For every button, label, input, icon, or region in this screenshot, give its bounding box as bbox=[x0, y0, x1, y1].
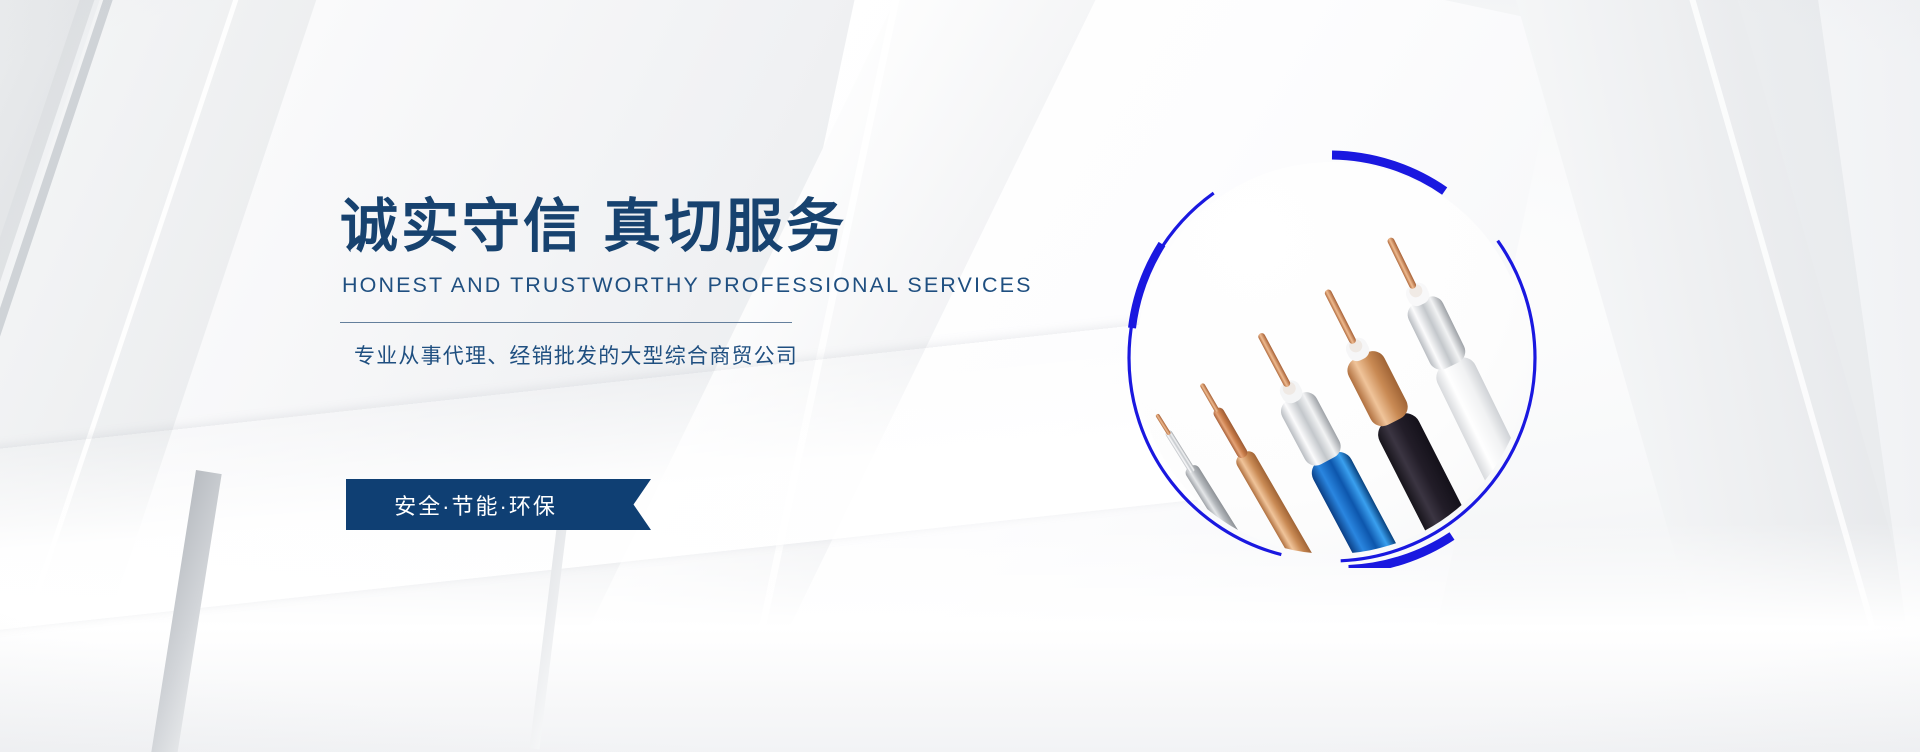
hero-tagline: 专业从事代理、经销批发的大型综合商贸公司 bbox=[354, 340, 860, 370]
background-vignette bbox=[0, 0, 1920, 752]
feature-ribbon-badge: 安全·节能·环保 bbox=[346, 479, 605, 530]
product-image-circle bbox=[1122, 148, 1542, 568]
divider bbox=[340, 322, 792, 323]
decorative-blue-ring bbox=[1122, 148, 1542, 568]
hero-copy: 诚实守信 真切服务 HONEST AND TRUSTWORTHY PROFESS… bbox=[340, 196, 860, 370]
hero-banner: 诚实守信 真切服务 HONEST AND TRUSTWORTHY PROFESS… bbox=[0, 0, 1920, 752]
page-title: 诚实守信 真切服务 bbox=[340, 196, 860, 259]
hero-subtitle-english: HONEST AND TRUSTWORTHY PROFESSIONAL SERV… bbox=[342, 273, 860, 298]
